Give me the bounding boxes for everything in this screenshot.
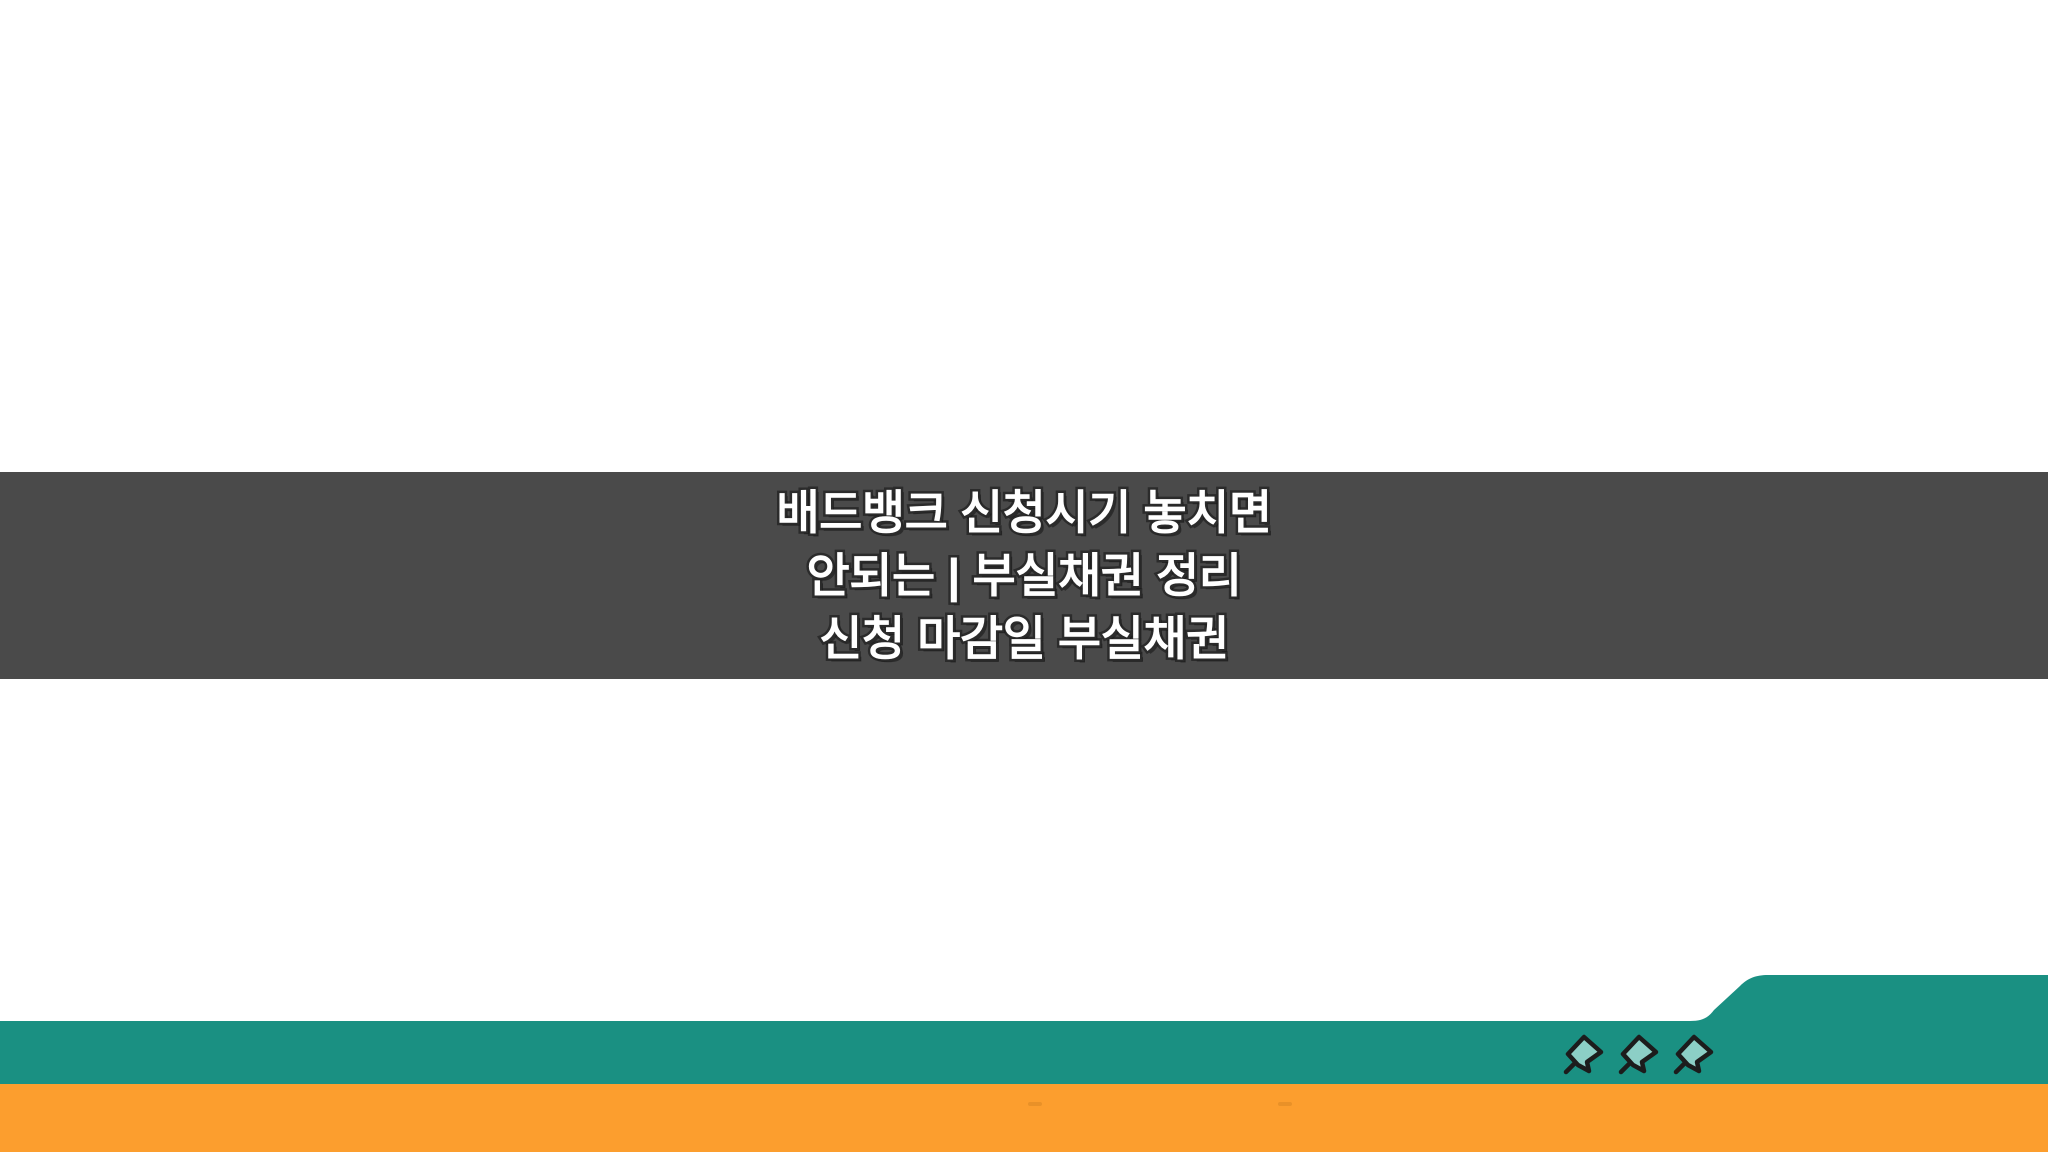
pushpin-group: [1560, 1030, 1720, 1082]
artifact-speck: [1278, 1102, 1292, 1106]
pushpin-icon-3: [1670, 1030, 1718, 1078]
pushpin-icon-1: [1560, 1030, 1608, 1078]
page-title: 배드뱅크 신청시기 놓치면 안되는 | 부실채권 정리 신청 마감일 부실채권: [776, 481, 1271, 670]
thumbnail-canvas: 배드뱅크 신청시기 놓치면 안되는 | 부실채권 정리 신청 마감일 부실채권: [0, 0, 2048, 1152]
teal-band-shape: [0, 975, 2048, 1084]
pushpin-icon-2: [1615, 1030, 1663, 1078]
orange-band-shape: [0, 1084, 2048, 1152]
footer-decoration: [0, 960, 2048, 1152]
title-banner: 배드뱅크 신청시기 놓치면 안되는 | 부실채권 정리 신청 마감일 부실채권: [0, 472, 2048, 679]
artifact-speck: [1028, 1102, 1042, 1106]
